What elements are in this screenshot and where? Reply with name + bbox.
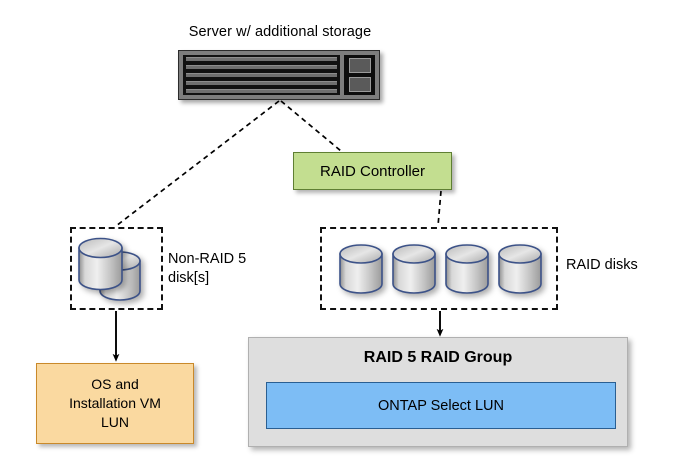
ontap-select-lun-label: ONTAP Select LUN — [378, 398, 504, 414]
server-drive-bays — [183, 55, 340, 95]
raid-disks-label: RAID disks — [566, 256, 666, 275]
disk-cylinder-icon — [497, 243, 543, 295]
wire-raid-controller-to-raid-disks — [438, 191, 441, 226]
disk-cylinder-icon — [338, 243, 384, 295]
non-raid-disk-group — [70, 227, 163, 310]
server-bay — [186, 57, 337, 61]
raid-controller-box: RAID Controller — [293, 152, 452, 190]
os-installation-vm-lun-box: OS and Installation VM LUN — [36, 363, 194, 444]
wire-server-to-non-raid — [116, 101, 279, 226]
server-drive-slot — [349, 58, 371, 73]
disk-cylinder-icon — [444, 243, 490, 295]
disk-cylinder-icon — [391, 243, 437, 295]
server-bay — [186, 81, 337, 85]
ontap-select-lun-box: ONTAP Select LUN — [266, 382, 616, 429]
non-raid-disks-label: Non-RAID 5 disk[s] — [168, 250, 263, 288]
server-front-panel — [344, 55, 375, 95]
server-bay — [186, 89, 337, 93]
diagram-canvas: Server w/ additional storage RAID Contro… — [0, 0, 675, 475]
os-lun-line-1: OS and — [91, 375, 138, 394]
raid5-raid-group-title: RAID 5 RAID Group — [249, 349, 627, 367]
disk-cylinder-icon — [77, 237, 124, 291]
raid-disk-group — [320, 227, 558, 310]
diagram-title: Server w/ additional storage — [0, 23, 560, 41]
raid-controller-label: RAID Controller — [320, 163, 425, 180]
os-lun-line-3: LUN — [101, 413, 129, 432]
server-bay — [186, 73, 337, 77]
server-bay — [186, 65, 337, 69]
os-lun-line-2: Installation VM — [69, 394, 161, 413]
server-drive-slot — [349, 77, 371, 92]
raid5-raid-group-box: RAID 5 RAID Group ONTAP Select LUN — [248, 337, 628, 447]
server-chassis — [178, 50, 380, 100]
wire-server-to-raid-controller — [281, 101, 341, 151]
